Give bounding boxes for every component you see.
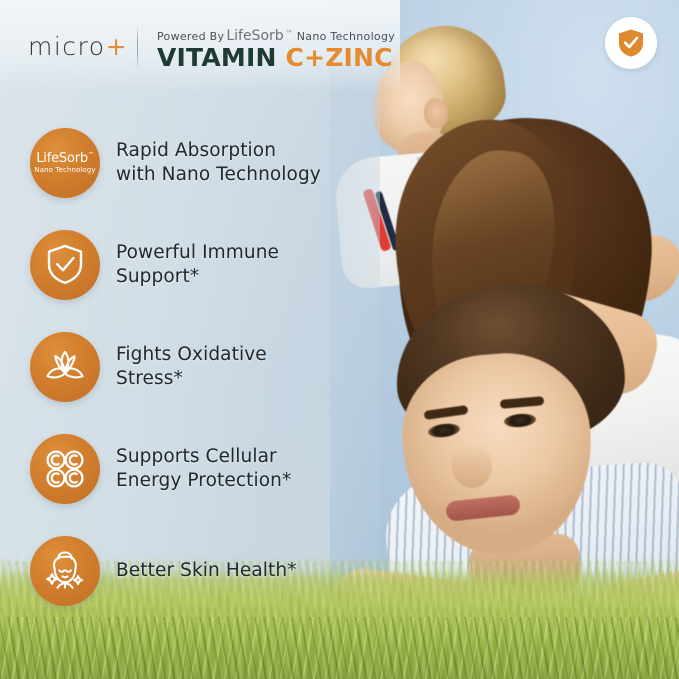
shield-check-badge [605,17,657,69]
brand-logo: micro+ [28,32,128,61]
feature-line-1: Rapid Absorption [116,139,321,163]
product-title-primary: VITAMIN [157,43,277,72]
header-divider [137,25,138,69]
feature-item-rapid-absorption: LifeSorb™ Nano Technology Rapid Absorpti… [0,112,400,214]
cells-energy-glyph [44,448,86,490]
shield-check-icon [617,28,645,58]
feature-line-1: Better Skin Health* [116,559,297,583]
grass-blades-foreground [0,617,679,679]
powered-by-line: Powered ByLifeSorb™ Nano Technology [157,28,395,44]
feature-line-2: Stress* [116,367,267,391]
feature-text-oxidative-stress: Fights Oxidative Stress* [116,343,267,391]
feature-line-2: Support* [116,265,279,289]
banner-header: micro+ Powered ByLifeSorb™ Nano Technolo… [0,0,679,92]
lotus-flower-icon [30,332,100,402]
powered-by-suffix: Nano Technology [297,30,395,43]
feature-list: LifeSorb™ Nano Technology Rapid Absorpti… [0,112,400,622]
feature-line-1: Supports Cellular [116,445,291,469]
brand-logo-text: micro [28,32,106,61]
feature-text-immune-support: Powerful Immune Support* [116,241,279,289]
feature-item-skin-health: Better Skin Health* [0,520,400,622]
lifesorb-badge-main: LifeSorb™ [34,152,95,166]
lifesorb-badge-text: LifeSorb™ Nano Technology [34,152,95,175]
cells-energy-icon [30,434,100,504]
boy-ear [424,98,448,128]
shield-check-icon [30,230,100,300]
skin-face-glyph [43,548,87,594]
feature-item-cellular-energy: Supports Cellular Energy Protection* [0,418,400,520]
lifesorb-brand-text: LifeSorb [224,28,285,44]
feature-line-2: with Nano Technology [116,163,321,187]
feature-line-2: Energy Protection* [116,469,291,493]
lifesorb-badge-tm: ™ [88,151,94,158]
lotus-flower-glyph [42,347,88,387]
powered-by-prefix: Powered By [157,30,224,43]
feature-text-rapid-absorption: Rapid Absorption with Nano Technology [116,139,321,187]
product-title: VITAMIN C+ZINC [157,43,393,72]
brand-logo-plus: + [106,32,128,61]
lifesorb-logo-icon: LifeSorb™ Nano Technology [30,128,100,198]
feature-line-1: Fights Oxidative [116,343,267,367]
skin-face-icon [30,536,100,606]
product-feature-banner: micro+ Powered ByLifeSorb™ Nano Technolo… [0,0,679,679]
feature-item-oxidative-stress: Fights Oxidative Stress* [0,316,400,418]
shield-check-glyph [44,243,86,287]
feature-text-cellular-energy: Supports Cellular Energy Protection* [116,445,291,493]
product-title-accent: C+ZINC [286,43,393,72]
feature-item-immune-support: Powerful Immune Support* [0,214,400,316]
lifesorb-badge-sub: Nano Technology [34,167,95,174]
feature-line-1: Powerful Immune [116,241,279,265]
feature-text-skin-health: Better Skin Health* [116,559,297,583]
trademark-symbol: ™ [286,29,293,37]
